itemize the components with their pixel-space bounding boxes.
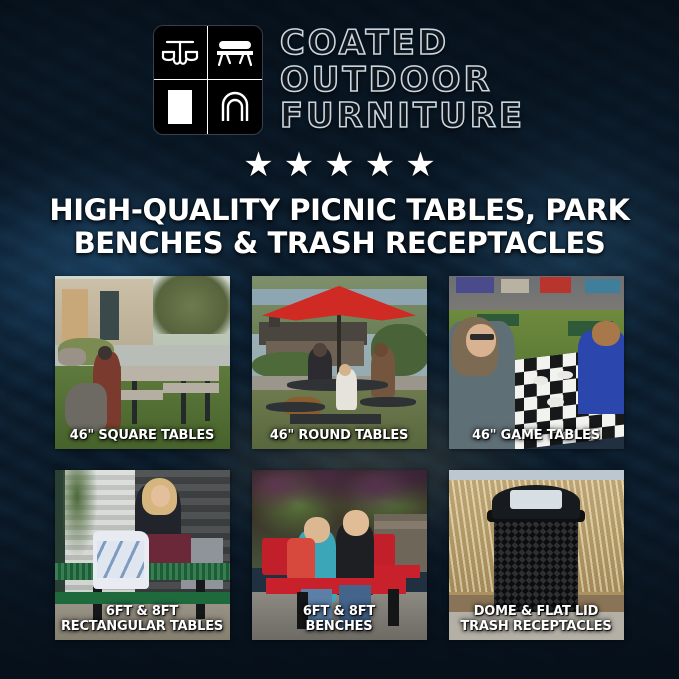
product-image-game-tables: [449, 276, 624, 449]
product-tile-rectangular-tables[interactable]: 6FT & 8FT RECTANGULAR TABLES: [55, 470, 230, 640]
headline: HIGH-QUALITY PICNIC TABLES, PARK BENCHES…: [0, 194, 679, 260]
product-tile-trash-receptacles[interactable]: DOME & FLAT LID TRASH RECEPTACLES: [449, 470, 624, 640]
bench-icon: [208, 26, 262, 80]
caption-line-1: 46" GAME TABLES: [453, 429, 620, 443]
product-caption-square-tables: 46" SQUARE TABLES: [55, 429, 230, 443]
logo-line-2: OUTDOOR: [280, 63, 525, 98]
product-tile-square-tables[interactable]: 46" SQUARE TABLES: [55, 276, 230, 449]
product-image-round-tables: [252, 276, 427, 449]
product-caption-round-tables: 46" ROUND TABLES: [252, 429, 427, 443]
product-tile-round-tables[interactable]: 46" ROUND TABLES: [252, 276, 427, 449]
product-caption-trash-receptacles: DOME & FLAT LID TRASH RECEPTACLES: [449, 605, 624, 633]
caption-line-1: 46" ROUND TABLES: [256, 429, 423, 443]
star-icon-1: ★: [243, 148, 273, 182]
product-caption-game-tables: 46" GAME TABLES: [449, 429, 624, 443]
bike-rack-arch-icon: [208, 80, 262, 134]
logo-line-1: COATED: [280, 26, 525, 61]
logo-line-3: FURNITURE: [280, 99, 525, 134]
headline-line-2: BENCHES & TRASH RECEPTACLES: [38, 227, 641, 260]
headline-line-1: HIGH-QUALITY PICNIC TABLES, PARK: [49, 193, 629, 227]
star-icon-5: ★: [405, 148, 435, 182]
caption-line-1: 46" SQUARE TABLES: [59, 429, 226, 443]
product-image-square-tables: [55, 276, 230, 449]
product-caption-benches: 6FT & 8FT BENCHES: [252, 605, 427, 633]
caption-line-1: 6FT & 8FT: [59, 605, 226, 619]
star-icon-2: ★: [284, 148, 314, 182]
caption-line-2: BENCHES: [256, 620, 423, 634]
product-tile-game-tables[interactable]: 46" GAME TABLES: [449, 276, 624, 449]
product-grid: 46" SQUARE TABLES 46" ROUND TABLE: [55, 276, 625, 640]
picnic-table-icon: [154, 26, 208, 80]
caption-line-1: 6FT & 8FT: [256, 605, 423, 619]
trash-receptacle-icon: [154, 80, 208, 134]
star-icon-3: ★: [324, 148, 354, 182]
caption-line-1: DOME & FLAT LID: [453, 605, 620, 619]
logo-icon-grid: [154, 26, 262, 134]
star-rating: ★ ★ ★ ★ ★: [0, 148, 679, 182]
star-icon-4: ★: [365, 148, 395, 182]
brand-logo: COATED OUTDOOR FURNITURE: [0, 0, 679, 134]
product-tile-benches[interactable]: 6FT & 8FT BENCHES: [252, 470, 427, 640]
caption-line-2: TRASH RECEPTACLES: [453, 620, 620, 634]
product-banner: COATED OUTDOOR FURNITURE ★ ★ ★ ★ ★ HIGH-…: [0, 0, 679, 679]
caption-line-2: RECTANGULAR TABLES: [59, 620, 226, 634]
logo-wordmark: COATED OUTDOOR FURNITURE: [280, 26, 525, 134]
product-caption-rectangular-tables: 6FT & 8FT RECTANGULAR TABLES: [55, 605, 230, 633]
